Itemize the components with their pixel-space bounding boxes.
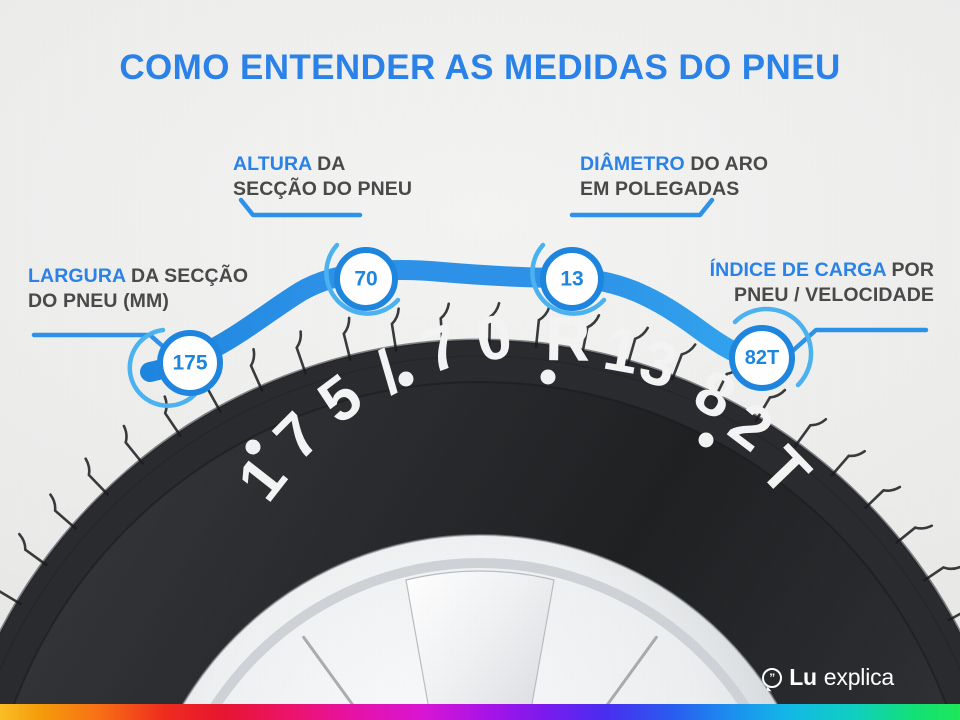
- label-altura: ALTURA DA SECÇÃO DO PNEU: [233, 152, 412, 202]
- badge-diametro[interactable]: 13: [543, 250, 601, 308]
- label-indice-rest: POR: [886, 259, 934, 281]
- label-diametro-line2: EM POLEGADAS: [580, 177, 768, 202]
- label-largura-rest: DA SECÇÃO: [125, 265, 248, 287]
- label-diametro-rest: DO ARO: [685, 153, 768, 175]
- label-indice-highlight: ÍNDICE DE CARGA: [710, 259, 886, 281]
- infographic-canvas: COMO ENTENDER AS MEDIDAS DO PNEU: [0, 0, 960, 720]
- label-indice-line1: ÍNDICE DE CARGA POR: [710, 258, 934, 283]
- leader-diametro: [572, 200, 712, 215]
- badge-indice[interactable]: 82T: [732, 328, 792, 388]
- measurement-connector-diagram: 175 70 13 82T: [0, 0, 960, 720]
- lu-explica-logo: ” Lu explica: [762, 664, 894, 691]
- logo-brand-bold: Lu: [789, 664, 817, 691]
- label-altura-line2: SECÇÃO DO PNEU: [233, 177, 412, 202]
- label-diametro: DIÂMETRO DO ARO EM POLEGADAS: [580, 152, 768, 202]
- page-title: COMO ENTENDER AS MEDIDAS DO PNEU: [0, 48, 960, 88]
- speech-bubble-icon: ”: [762, 668, 782, 688]
- svg-text:82T: 82T: [745, 347, 779, 369]
- label-altura-rest: DA: [312, 153, 346, 175]
- label-altura-highlight: ALTURA: [233, 153, 312, 175]
- logo-brand-light: explica: [824, 664, 894, 691]
- svg-text:70: 70: [354, 268, 377, 291]
- rainbow-footer-bar: [0, 704, 960, 720]
- label-diametro-line1: DIÂMETRO DO ARO: [580, 152, 768, 177]
- leader-largura: [34, 335, 176, 358]
- label-indice-line2: PNEU / VELOCIDADE: [710, 283, 934, 308]
- label-indice: ÍNDICE DE CARGA POR PNEU / VELOCIDADE: [710, 258, 934, 308]
- svg-text:175: 175: [172, 352, 207, 375]
- badge-altura[interactable]: 70: [337, 250, 395, 308]
- label-largura-line1: LARGURA DA SECÇÃO: [28, 264, 248, 289]
- label-largura-line2: DO PNEU (MM): [28, 289, 248, 314]
- label-largura: LARGURA DA SECÇÃO DO PNEU (MM): [28, 264, 248, 314]
- svg-text:13: 13: [560, 268, 583, 291]
- badge-largura[interactable]: 175: [160, 333, 220, 393]
- label-diametro-highlight: DIÂMETRO: [580, 153, 685, 175]
- leader-altura: [241, 200, 360, 215]
- label-largura-highlight: LARGURA: [28, 265, 125, 287]
- label-altura-line1: ALTURA DA: [233, 152, 412, 177]
